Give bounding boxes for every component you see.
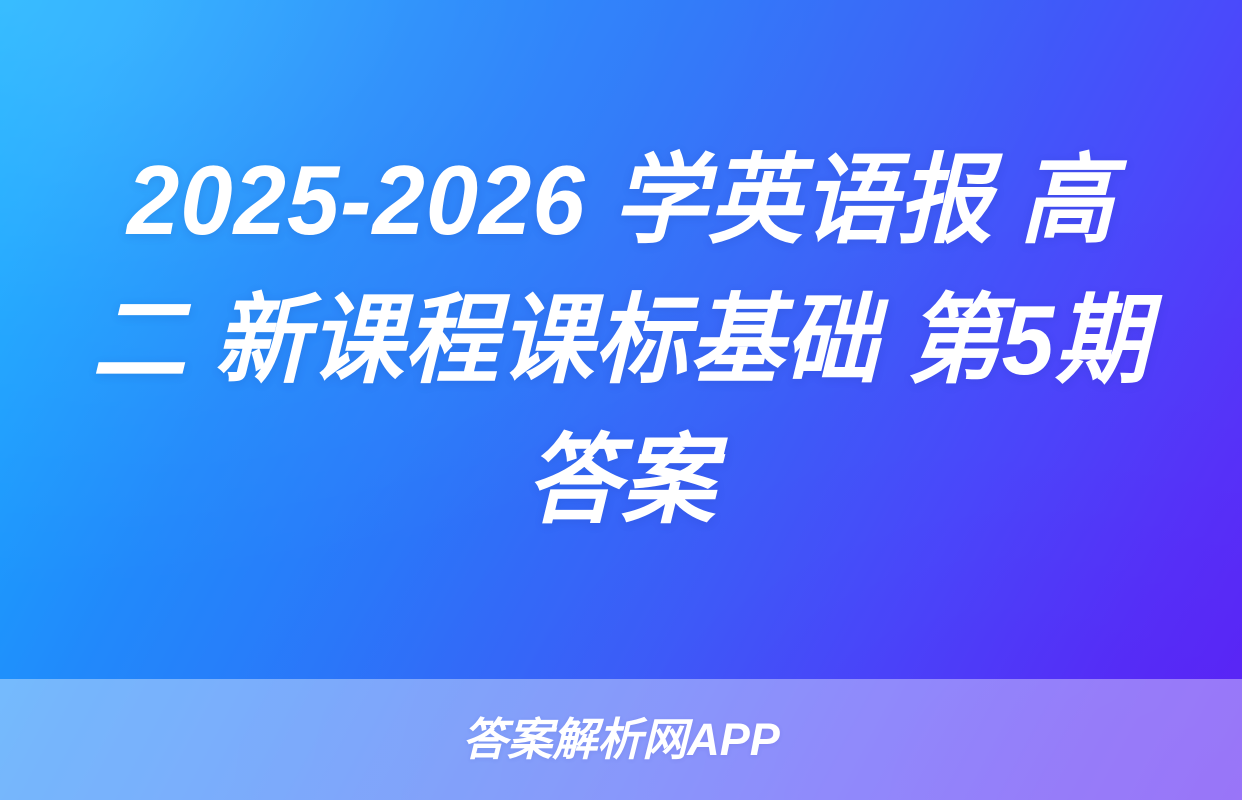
app-brand-label: 答案解析网APP bbox=[462, 717, 780, 762]
app-brand-band[interactable]: 答案解析网APP bbox=[0, 679, 1242, 800]
poster-card: 2025-2026 学英语报 高二 新课程课标基础 第5期答案 答案解析网APP bbox=[0, 0, 1242, 800]
poster-content: 2025-2026 学英语报 高二 新课程课标基础 第5期答案 答案解析网APP bbox=[0, 0, 1242, 800]
title-area: 2025-2026 学英语报 高二 新课程课标基础 第5期答案 bbox=[0, 0, 1242, 679]
page-title: 2025-2026 学英语报 高二 新课程课标基础 第5期答案 bbox=[82, 130, 1159, 550]
